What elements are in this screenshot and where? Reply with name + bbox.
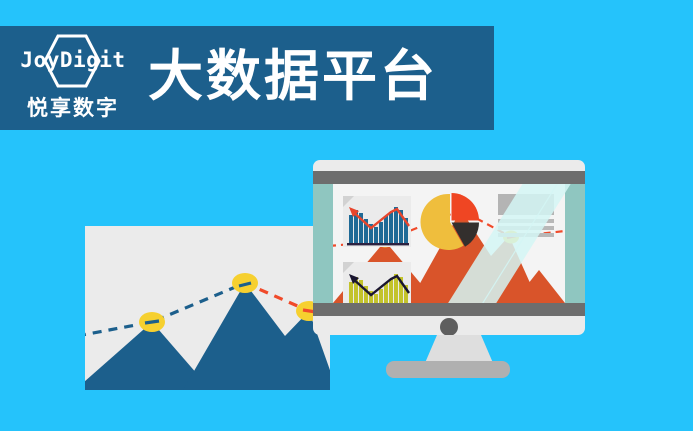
monitor-screen (313, 184, 585, 303)
logo-chinese-name: 悦享数字 (14, 92, 132, 122)
pie-slice-b[interactable] (452, 193, 480, 221)
monitor-stand-base (386, 361, 510, 378)
monitor-bezel-bottom (313, 303, 585, 316)
placeholder-image-block (498, 194, 554, 215)
blue-mountain-chart (85, 226, 330, 390)
page-title: 大数据平台 (148, 49, 438, 108)
placeholder-line (498, 226, 554, 230)
text-placeholder-widget[interactable] (498, 194, 554, 234)
logo-wordmark: JoyDigit (14, 48, 132, 72)
marker-dash (145, 321, 159, 323)
monitor (313, 160, 585, 335)
blue-bar-chart-card[interactable] (343, 196, 411, 247)
placeholder-line (498, 233, 554, 237)
placeholder-line (498, 219, 554, 223)
monitor-stand-neck (425, 335, 493, 363)
monitor-home-button[interactable] (440, 318, 458, 336)
card-fold-corner (343, 262, 354, 273)
monitor-bezel-top (313, 171, 585, 184)
left-illustration-panel (85, 226, 330, 390)
axis-baseline (347, 243, 409, 245)
screenshot-canvas: JoyDigit 悦享数字 大数据平台 (0, 0, 693, 431)
card-fold-corner (343, 196, 354, 207)
dashboard-view[interactable] (333, 184, 565, 303)
pie-chart[interactable] (420, 192, 480, 252)
olive-bar-chart-card[interactable] (343, 262, 411, 303)
header-banner: JoyDigit 悦享数字 大数据平台 (0, 26, 494, 130)
brand-logo: JoyDigit 悦享数字 (14, 32, 132, 124)
